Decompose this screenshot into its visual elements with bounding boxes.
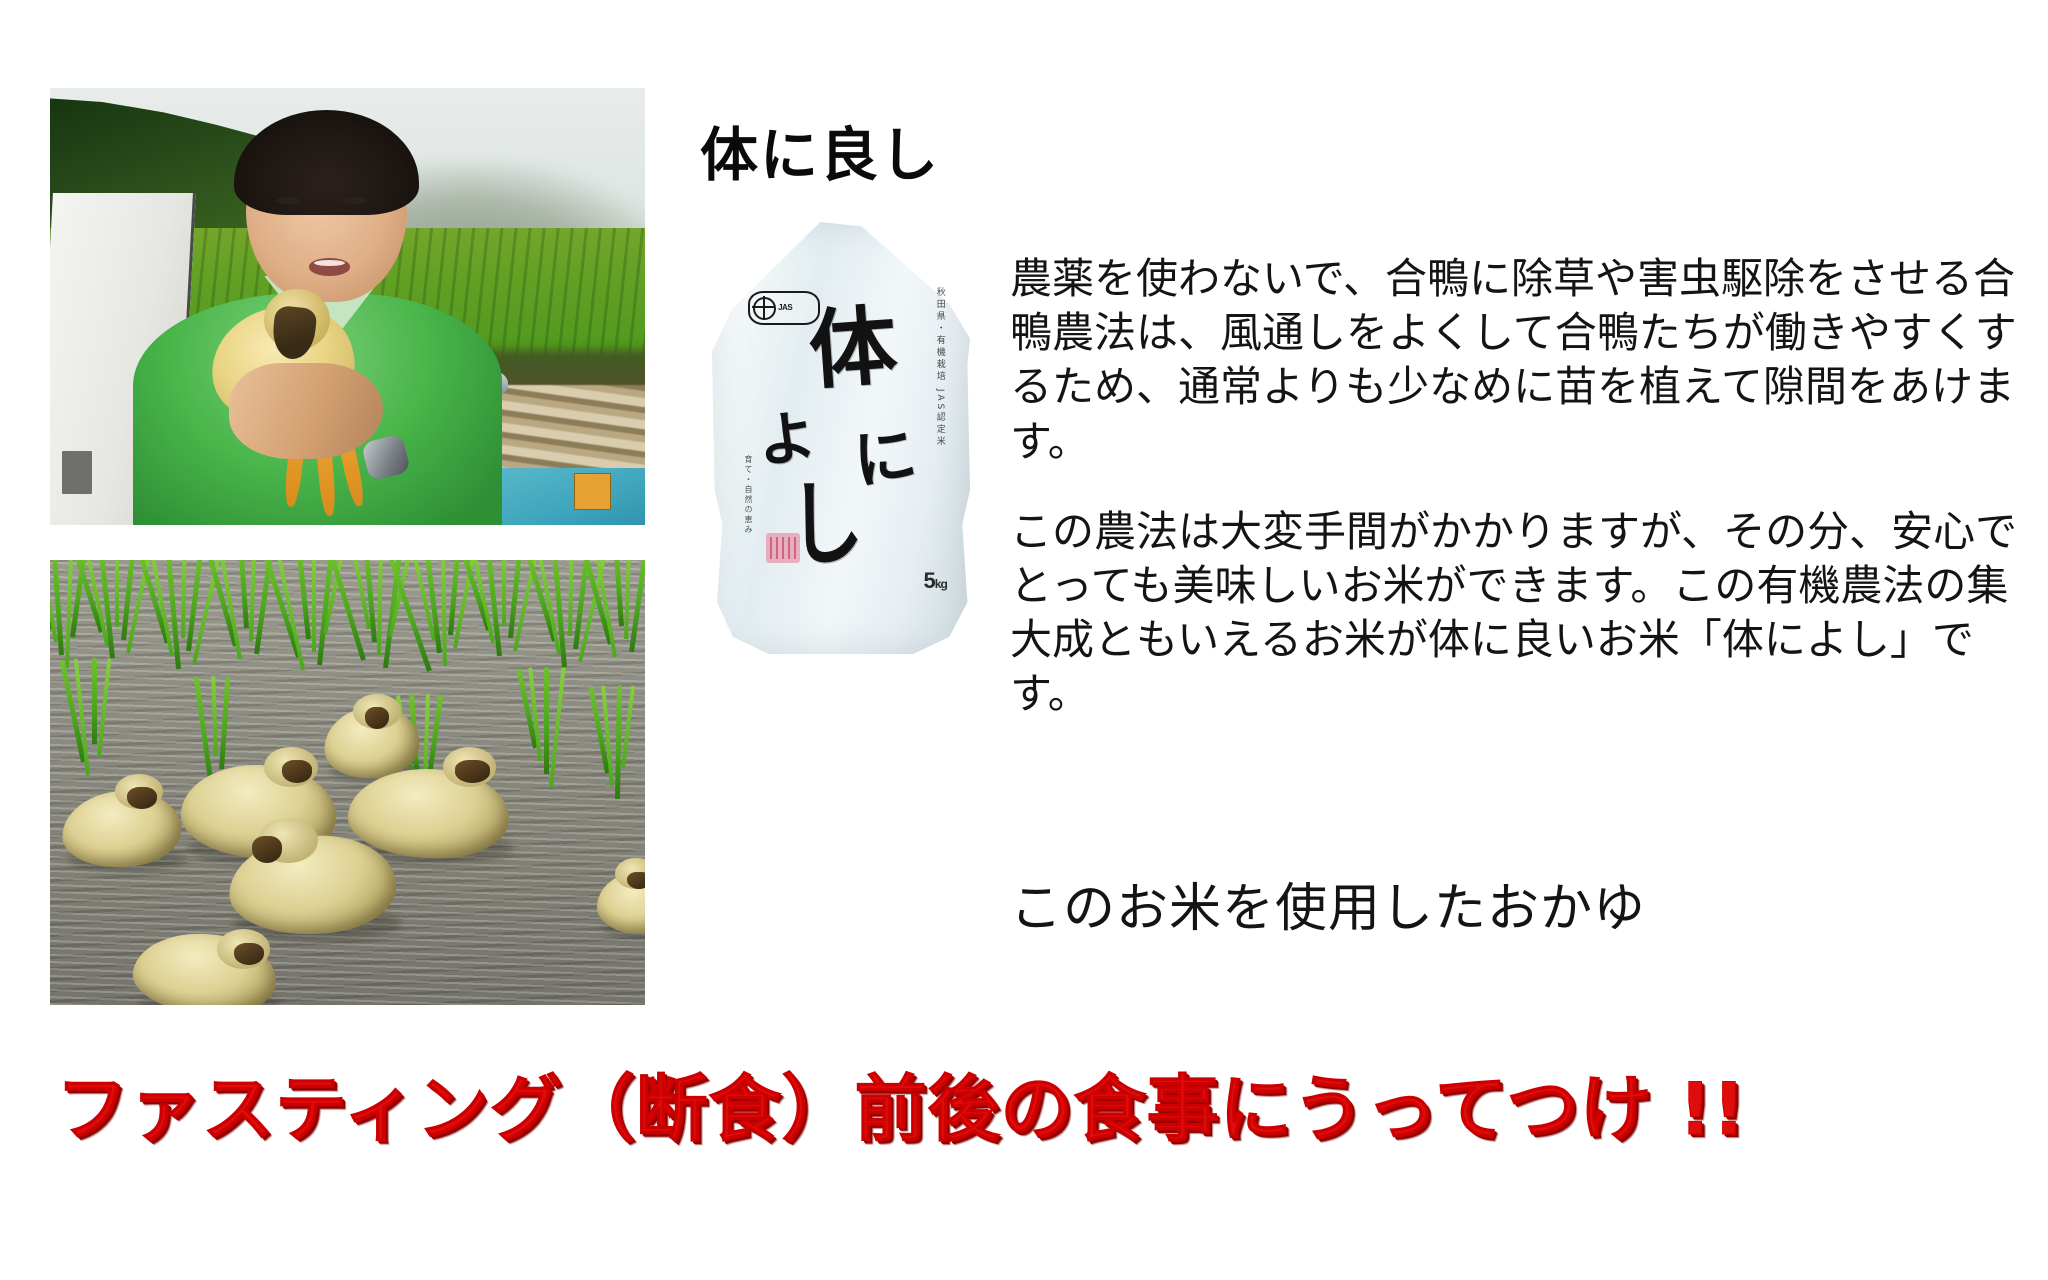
rice-shoot — [544, 667, 549, 774]
photo-board-mark — [62, 451, 92, 495]
rice-shoot — [115, 560, 119, 627]
jas-mark-label: JAS — [778, 304, 792, 312]
rice-shoot — [92, 658, 97, 744]
photo-farmer-mouth — [309, 258, 351, 275]
rice-bag-vertical-text-left: 育て・自然の恵み — [743, 455, 754, 535]
lead-line-text: このお米を使用したおかゆ — [1010, 878, 1646, 940]
photo-farmer-fingers — [229, 363, 384, 459]
rice-shoot — [502, 560, 506, 625]
brush-char-yo: よ — [756, 409, 819, 470]
jas-circle-icon — [753, 297, 776, 320]
rice-bag-vertical-text-right: 秋田県・有機栽培 JAS認定米 — [934, 287, 947, 448]
duckling-bill — [455, 760, 491, 782]
duckling-bill — [252, 836, 282, 863]
rice-bag-weight-label: 5kg — [924, 568, 947, 594]
rice-package-image: JAS 体 に よ し 秋田県・有機栽培 JAS認定米 育て・自然の恵み 5kg — [712, 222, 970, 654]
duckling-bill — [234, 943, 264, 965]
photo-ducklings-in-paddy — [50, 560, 645, 1005]
page-title: 体に良し — [700, 108, 940, 192]
rice-bag-pink-seal — [766, 533, 800, 563]
photo-tarp-note — [574, 473, 612, 510]
weight-unit: kg — [935, 577, 947, 591]
seal-texture — [770, 537, 796, 559]
photo-farmer-holding-duckling — [50, 88, 645, 525]
red-banner-text: ファスティング（断食）前後の食事にうってつけ !! — [56, 1050, 2016, 1155]
paragraph-two: この農法は大変手間がかかりますが、その分、安心でとっても美味しいお米ができます。… — [1010, 505, 2030, 722]
brush-char-karada: 体 — [806, 305, 899, 393]
rice-shoot — [312, 560, 316, 652]
weight-number: 5 — [924, 568, 935, 593]
duckling-bill — [282, 760, 312, 782]
body-copy-block: 農薬を使わないで、合鴨に除草や害虫駆除をさせる合鴨農法は、風通しをよくして合鴨た… — [1010, 252, 2030, 721]
paragraph-one: 農薬を使わないで、合鴨に除草や害虫駆除をさせる合鴨農法は、風通しをよくして合鴨た… — [1010, 252, 2030, 469]
